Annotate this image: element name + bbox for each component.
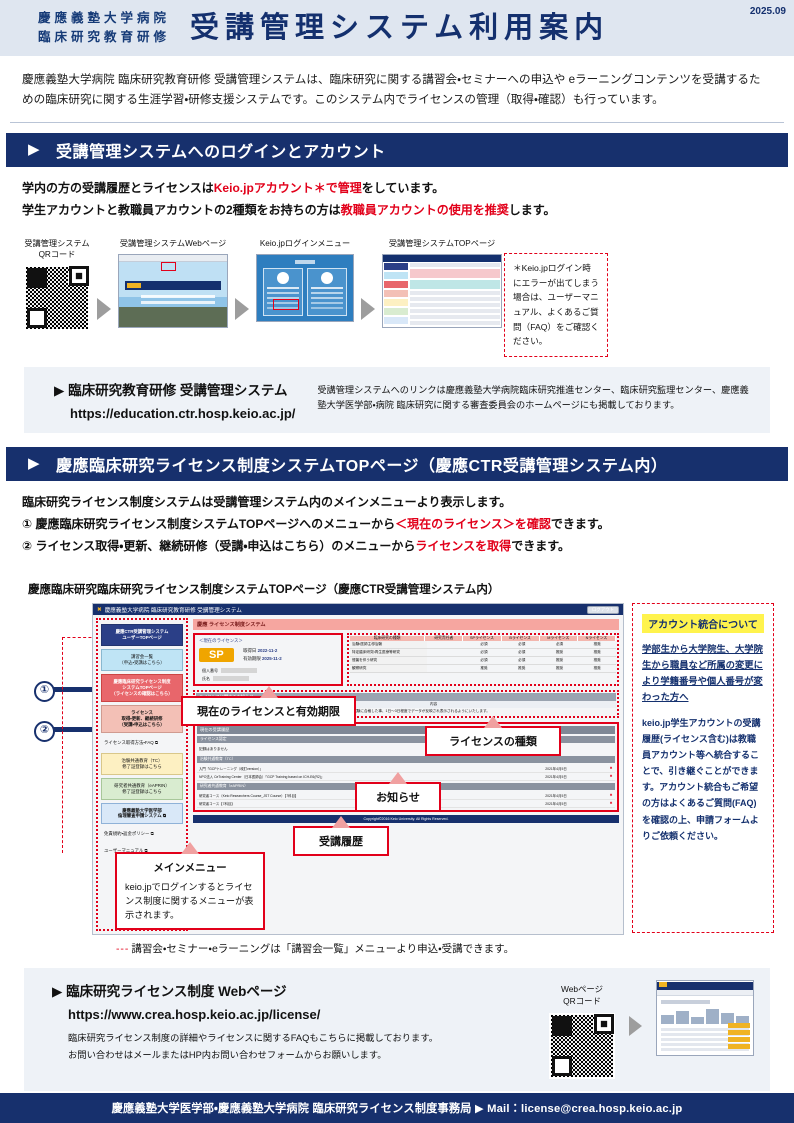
- current-license-label: ＜現在のライセンス＞: [199, 638, 337, 644]
- license-web-desc-1: 臨床研究ライセンス制度の詳細やライセンスに関するFAQもこちらに掲載しております…: [68, 1030, 535, 1046]
- lead-paragraph: 慶應義塾大学病院 臨床研究教育研修 受講管理システムは、臨床研究に関する講習会・…: [0, 56, 794, 122]
- app-titlebar: ✖ 慶應義塾大学病院 臨床研究教育研修 受講管理システム ログアウト: [93, 604, 623, 615]
- s1l2-c: します。: [509, 203, 556, 217]
- lt-r2-c4: 推奨: [578, 657, 616, 664]
- flow-step-qr: 受講管理システム QRコード: [24, 239, 90, 330]
- license-personal-no: 個人番号: [199, 667, 337, 672]
- callout-license-period: 現在のライセンスと有効期限: [181, 696, 356, 726]
- lt-r0-c1: 必須: [465, 641, 503, 648]
- system-link-url[interactable]: https://education.ctr.hosp.keio.ac.jp/: [54, 406, 295, 421]
- qr-code-icon: [24, 265, 90, 331]
- dashed-connector-vertical: [62, 637, 63, 853]
- s1l2-b: 教職員アカウントの使用を推奨: [341, 203, 509, 217]
- lt-r2-c2: 必須: [503, 657, 541, 664]
- sidebar-item-faq[interactable]: ライセンス取得方法・FAQ ⧉: [101, 736, 183, 750]
- s2l3-a: ② ライセンス取得・更新、継続研修（受講・申込はこちら）のメニューから: [22, 539, 415, 553]
- web-qr-caption: Webページ QRコード: [549, 984, 615, 1007]
- screenshot-thumb-webpage: [118, 254, 228, 328]
- s1l1-b: Keio.jpアカウント＊で管理: [214, 181, 362, 195]
- callout-news: お知らせ: [355, 782, 441, 812]
- flow-caption-web: 受講管理システムWebページ: [120, 239, 226, 250]
- table-row: 特定臨床研究・再生医療等研究 必須 必須 推奨 推奨: [350, 649, 616, 657]
- organization-name: 慶應義塾大学病院 臨床研究教育研修: [38, 9, 170, 48]
- s2l3-b: ライセンスを取得: [415, 539, 511, 553]
- marker-one: ①: [34, 681, 55, 702]
- flow-step-web: 受講管理システムWebページ: [118, 239, 228, 328]
- flow-arrow-icon: [97, 298, 111, 320]
- hr2-1-date: 2021年4月5日: [505, 801, 607, 806]
- section-2-line-3: ② ライセンス取得・更新、継続研修（受講・申込はこちら）のメニューからライセンス…: [22, 535, 772, 557]
- license-web-desc-2: お問い合わせはメールまたはHP内お問い合わせフォームからお願いします。: [68, 1047, 535, 1063]
- lt-r0-c0: [427, 641, 465, 648]
- logout-button[interactable]: ログアウト: [587, 606, 619, 614]
- delete-icon[interactable]: ✖: [607, 766, 615, 771]
- sidebar-item-license-top[interactable]: 慶應臨床研究ライセンス制度 システムTOPページ （ライセンスの確認はこちら）: [101, 674, 183, 702]
- history-sub-tc: 治験共通教育（TC）: [197, 756, 615, 763]
- s1l1-c: をしています。: [362, 181, 444, 195]
- lt-r2-c1: 必須: [465, 657, 503, 664]
- web-flow-arrow-icon: [629, 1016, 642, 1036]
- date-stamp: 2025.09: [750, 6, 786, 17]
- sidebar-item-user-top[interactable]: 慶應CTR受講管理システム ユーザーTOPページ: [101, 624, 183, 646]
- lt-r1-c4: 推奨: [578, 649, 616, 656]
- license-name: 氏名: [199, 676, 337, 681]
- system-link-title: ▶ 臨床研究教育研修 受講管理システム: [54, 379, 295, 399]
- delete-icon[interactable]: ✖: [607, 774, 615, 779]
- delete-icon[interactable]: ✖: [607, 793, 615, 798]
- account-merge-heading: アカウント統合について: [642, 614, 764, 633]
- app-logo-icon: ✖: [97, 607, 102, 613]
- triangle-icon-2: ▶: [28, 456, 40, 471]
- flow-arrow-icon-3: [361, 298, 375, 320]
- license-badge: SP: [199, 648, 234, 662]
- section-1-header: ▶ 受講管理システムへのログインとアカウント: [6, 133, 788, 167]
- delete-icon[interactable]: ✖: [607, 801, 615, 806]
- login-flow-diagram: 受講管理システム QRコード 受講管理システムWebページ Keio.jpログイ…: [14, 235, 780, 357]
- license-web-url[interactable]: https://www.crea.hosp.keio.ac.jp/license…: [52, 1007, 535, 1022]
- flow-arrow-icon-2: [235, 298, 249, 320]
- section-2-title: 慶應臨床研究ライセンス制度システムTOPページ（慶應CTR受講管理システム内）: [56, 452, 667, 476]
- marker-two: ②: [34, 721, 55, 742]
- flow-step-keio-login: Keio.jpログインメニュー: [256, 239, 354, 322]
- table-row: 侵襲を伴う研究 必須 必須 推奨 推奨: [350, 657, 616, 665]
- current-license-box: ＜現在のライセンス＞ SP 取得日 2022-11-2 有効期限 2025-11…: [193, 633, 343, 686]
- section-1-title: 受講管理システムへのログインとアカウント: [56, 138, 386, 162]
- section-1-line-1: 学内の方の受講履歴とライセンスはKeio.jpアカウント＊で管理をしています。: [22, 177, 772, 199]
- callout-license-type-text: ライセンスの種類: [449, 736, 537, 748]
- s2l2-c: できます。: [551, 517, 610, 531]
- screenshot-thumb-license-web: [656, 980, 754, 1056]
- lt-r0-c2: 必須: [503, 641, 541, 648]
- callout-main-menu: メインメニュー keio.jpでログインするとライセンス制度に関するメニューが表…: [115, 852, 265, 930]
- page-header: 慶應義塾大学病院 臨床研究教育研修 受講管理システム利用案内 2025.09: [0, 0, 794, 56]
- keio-login-error-note: ＊Keio.jpログイン時にエラーが出てしまう場合は、ユーザーマニュアル、よくあ…: [504, 253, 608, 357]
- page-footer: 慶應義塾大学医学部・慶應義塾大学病院 臨床研究ライセンス制度事務局 ▶ Mail…: [0, 1093, 794, 1123]
- hr2-0-name: 研究者コース（Keio Researchers Course_JST Cours…: [197, 793, 505, 798]
- lt-r1-c3: 推奨: [541, 649, 579, 656]
- hr1-0-name: 入門「GCPトレーニング（改訂version）」: [197, 766, 505, 771]
- lt-r1-c0: [427, 649, 465, 656]
- lt-r3-c1: 推奨: [465, 665, 503, 672]
- web-qr-column: Webページ QRコード: [549, 980, 615, 1079]
- license-sub-label-2: 氏名: [202, 676, 210, 681]
- sidebar-item-eaprin[interactable]: 研究者共通教育（eAPRIN） 修了証登録はこちら: [101, 778, 183, 800]
- app-page-title: 慶應 ライセンス制度システム: [193, 619, 619, 630]
- screenshot-thumb-keio-login: [256, 254, 354, 322]
- screenshot-thumb-toppage: [382, 254, 502, 328]
- sidebar-item-course-list[interactable]: 講習会一覧 （申込・受講はこちら）: [101, 649, 183, 671]
- s2l3-c: できます。: [511, 539, 570, 553]
- lt-r0-c4: 推奨: [578, 641, 616, 648]
- dash-decoration: - - -: [116, 943, 127, 955]
- license-sub-label-1: 個人番号: [202, 668, 218, 673]
- callout-license-period-text: 現在のライセンスと有効期限: [197, 706, 340, 718]
- license-end-label: 有効期限: [243, 656, 261, 661]
- system-link-box: ▶ 臨床研究教育研修 受講管理システム https://education.ct…: [24, 367, 770, 433]
- lt-r2-c0: [427, 657, 465, 664]
- web-qr-code-icon: [549, 1013, 615, 1079]
- hr1-1-name: NPO法人 CeTraining Center（日本医師会）「GCP Train…: [197, 774, 505, 779]
- license-web-title: ▶ 臨床研究ライセンス制度 Webページ: [52, 980, 535, 1000]
- license-type-table: 臨床研究の種類 研究責任者 SPライセンス Bライセンス Mライセンス Nライセ…: [347, 633, 619, 686]
- section-1-body: 学内の方の受講履歴とライセンスはKeio.jpアカウント＊で管理をしています。 …: [0, 167, 794, 227]
- lt-r3-c0: [427, 665, 465, 672]
- divider: [10, 122, 784, 123]
- lt-r1-c1: 必須: [465, 649, 503, 656]
- callout-main-menu-body: keio.jpでログインするとライセンス制度に関するメニューが表示されます。: [125, 880, 255, 923]
- lt-r1-name: 特定臨床研究・再生医療等研究: [350, 649, 427, 656]
- hr1-0-date: 2021年4月5日: [505, 766, 607, 771]
- callout-history-text: 受講履歴: [319, 836, 363, 848]
- table-row: 観察研究 推奨 推奨 推奨 推奨: [350, 665, 616, 673]
- callout-news-text: お知らせ: [376, 792, 420, 804]
- s2l2-b: ＜現在のライセンス＞を確認: [395, 517, 551, 531]
- account-merge-body: keio.jp学生アカウントの受講履歴(ライセンス含む)は教職員アカウント等へ統…: [642, 715, 764, 843]
- sidebar-item-policy[interactable]: 免責規約・返金ポリシー ⧉: [101, 827, 183, 841]
- lt-r2-name: 侵襲を伴う研究: [350, 657, 427, 664]
- lt-r0-c3: 必須: [541, 641, 579, 648]
- license-start-date: 2022-11-2: [258, 648, 278, 653]
- license-end-date: 2025-11-2: [262, 656, 282, 661]
- s1l1-a: 学内の方の受講履歴とライセンスは: [22, 181, 214, 195]
- app-titlebar-text: 慶應義塾大学病院 臨床研究教育研修 受講管理システム: [105, 606, 242, 614]
- flow-caption-qr: 受講管理システム QRコード: [24, 239, 89, 260]
- hr2-1-name: 研究者コース【7科目】: [197, 801, 505, 806]
- mockup-bottom-caption: - - -講習会・セミナー・eラーニングは「講習会一覧」メニューより申込・受講で…: [20, 935, 774, 956]
- flow-caption-top: 受講管理システムTOPページ: [389, 239, 495, 250]
- s2l2-a: ① 慶應臨床研究ライセンス制度システムTOPページへのメニューから: [22, 517, 395, 531]
- hr2-0-date: 2021年4月5日: [505, 793, 607, 798]
- app-copyright: Copyright©2016 Keio University. All Righ…: [193, 815, 619, 823]
- lt-r3-c2: 推奨: [503, 665, 541, 672]
- sidebar-item-ethics[interactable]: 慶應義塾大学医学部 倫理審査申請システム ⧉: [101, 803, 183, 825]
- license-start-label: 取得日: [243, 648, 256, 653]
- callout-main-menu-title: メインメニュー: [125, 860, 255, 876]
- flow-caption-keio: Keio.jpログインメニュー: [260, 239, 350, 250]
- application-screenshot: ✖ 慶應義塾大学病院 臨床研究教育研修 受講管理システム ログアウト 慶應CTR…: [92, 603, 624, 935]
- license-web-desc: 臨床研究ライセンス制度の詳細やライセンスに関するFAQもこちらに掲載しております…: [52, 1030, 535, 1063]
- mockup-bottom-caption-text: 講習会・セミナー・eラーニングは「講習会一覧」メニューより申込・受講できます。: [131, 943, 514, 955]
- callout-history: 受講履歴: [293, 826, 389, 856]
- sidebar-item-tc[interactable]: 治験共通教育（TC） 修了証登録はこちら: [101, 753, 183, 775]
- mockup-area: 慶應臨床研究臨床研究ライセンス制度システムTOPページ（慶應CTR受講管理システ…: [14, 571, 780, 960]
- lt-r3-name: 観察研究: [350, 665, 427, 672]
- section-2-header: ▶ 慶應臨床研究ライセンス制度システムTOPページ（慶應CTR受講管理システム内…: [6, 447, 788, 481]
- license-web-box: ▶ 臨床研究ライセンス制度 Webページ https://www.crea.ho…: [24, 968, 770, 1091]
- sidebar-item-license-acquire[interactable]: ライセンス 取得・更新、継続研修 （受講・申込はこちら）: [101, 705, 183, 733]
- s1l2-a: 学生アカウントと教職員アカウントの2種類をお持ちの方は: [22, 203, 341, 217]
- lt-r1-c2: 必須: [503, 649, 541, 656]
- license-dates: 取得日 2022-11-2 有効期限 2025-11-2: [243, 647, 282, 664]
- section-2-line-1: 臨床研究ライセンス制度システムは受講管理システム内のメインメニューより表示します…: [22, 491, 772, 513]
- page-title: 受講管理システム利用案内: [190, 14, 609, 43]
- poster-page: 慶應義塾大学病院 臨床研究教育研修 受講管理システム利用案内 2025.09 慶…: [0, 0, 794, 1123]
- lt-r3-c4: 推奨: [578, 665, 616, 672]
- section-2-body: 臨床研究ライセンス制度システムは受講管理システム内のメインメニューより表示します…: [0, 481, 794, 564]
- lt-r3-c3: 推奨: [541, 665, 579, 672]
- lt-r0-name: 治験・医師主導治験: [350, 641, 427, 648]
- callout-license-type: ライセンスの種類: [425, 726, 561, 756]
- system-link-description: 受講管理システムへのリンクは慶應義塾大学病院臨床研究推進センター、臨床研究監理セ…: [317, 379, 752, 413]
- mockup-caption: 慶應臨床研究臨床研究ライセンス制度システムTOPページ（慶應CTR受講管理システ…: [20, 577, 774, 603]
- section-1-line-2: 学生アカウントと教職員アカウントの2種類をお持ちの方は教職員アカウントの使用を推…: [22, 199, 772, 221]
- flow-step-top-page: 受講管理システムTOPページ: [382, 239, 502, 328]
- lt-r2-c3: 推奨: [541, 657, 579, 664]
- account-merge-underlined: 学部生から大学院生、大学院生から職員など所属の変更により学籍番号や個人番号が変わ…: [642, 642, 764, 706]
- account-merge-box: アカウント統合について 学部生から大学院生、大学院生から職員など所属の変更により…: [632, 603, 774, 933]
- hr1-1-date: 2021年4月5日: [505, 774, 607, 779]
- table-row: 治験・医師主導治験 必須 必須 必須 推奨: [350, 641, 616, 649]
- triangle-icon: ▶: [28, 142, 40, 157]
- section-2-line-2: ① 慶應臨床研究ライセンス制度システムTOPページへのメニューから＜現在のライセ…: [22, 513, 772, 535]
